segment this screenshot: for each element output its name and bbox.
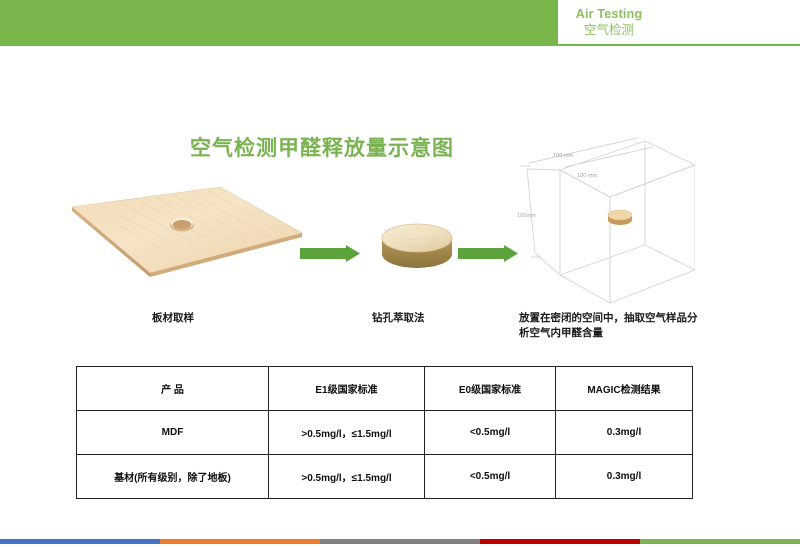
table-header-magic-result: MAGIC检测结果 [556, 367, 693, 411]
table-cell-e0: <0.5mg/l [425, 455, 556, 499]
table-header-e0-standard: E0级国家标准 [425, 367, 556, 411]
table-header-row: 产 品 E1级国家标准 E0级国家标准 MAGIC检测结果 [77, 367, 693, 411]
page-title: 空气检测甲醛释放量示意图 [190, 132, 454, 162]
table-row: 基材(所有级别，除了地板) >0.5mg/l，≤1.5mg/l <0.5mg/l… [77, 455, 693, 499]
process-arrow-1-icon [300, 245, 360, 262]
chamber-dim-side-label: 100 mm [577, 173, 598, 179]
footer-segment-3 [320, 539, 480, 544]
chamber-dim-height-label: 100mm [517, 213, 536, 219]
footer-segment-4 [480, 539, 640, 544]
table-cell-magic: 0.3mg/l [556, 411, 693, 455]
table-cell-e1: >0.5mg/l，≤1.5mg/l [269, 455, 425, 499]
table-row: MDF >0.5mg/l，≤1.5mg/l <0.5mg/l 0.3mg/l [77, 411, 693, 455]
caption-sealed-chamber: 放置在密闭的空间中，抽取空气样品分析空气内甲醛含量 [519, 311, 699, 341]
table-cell-product: MDF [77, 411, 269, 455]
caption-board-sampling: 板材取样 [152, 311, 194, 326]
air-testing-label-cn: 空气检测 [584, 22, 634, 38]
table-cell-e0: <0.5mg/l [425, 411, 556, 455]
air-testing-label: Air Testing 空气检测 [558, 0, 660, 44]
sealed-chamber-diagram: 100 mm 100 mm 100mm [505, 135, 695, 305]
table-header-product: 产 品 [77, 367, 269, 411]
air-testing-label-en: Air Testing [576, 7, 643, 22]
footer-segment-5 [640, 539, 800, 544]
wood-board-image [72, 185, 302, 277]
footer-segment-2 [160, 539, 320, 544]
brand-panel: Presented by FUGUAN® [660, 0, 800, 44]
footer-color-bar [0, 539, 800, 544]
table-cell-e1: >0.5mg/l，≤1.5mg/l [269, 411, 425, 455]
caption-drill-extraction: 钻孔萃取法 [372, 311, 425, 326]
header-underline [0, 44, 800, 46]
table-header-e1-standard: E1级国家标准 [269, 367, 425, 411]
wood-core-sample-image [378, 220, 456, 275]
table-cell-magic: 0.3mg/l [556, 455, 693, 499]
chamber-sample-icon [608, 210, 632, 225]
chamber-dim-top-label: 100 mm [553, 153, 574, 159]
formaldehyde-standards-table: 产 品 E1级国家标准 E0级国家标准 MAGIC检测结果 MDF >0.5mg… [76, 366, 693, 499]
table-cell-product: 基材(所有级别，除了地板) [77, 455, 269, 499]
footer-segment-1 [0, 539, 160, 544]
